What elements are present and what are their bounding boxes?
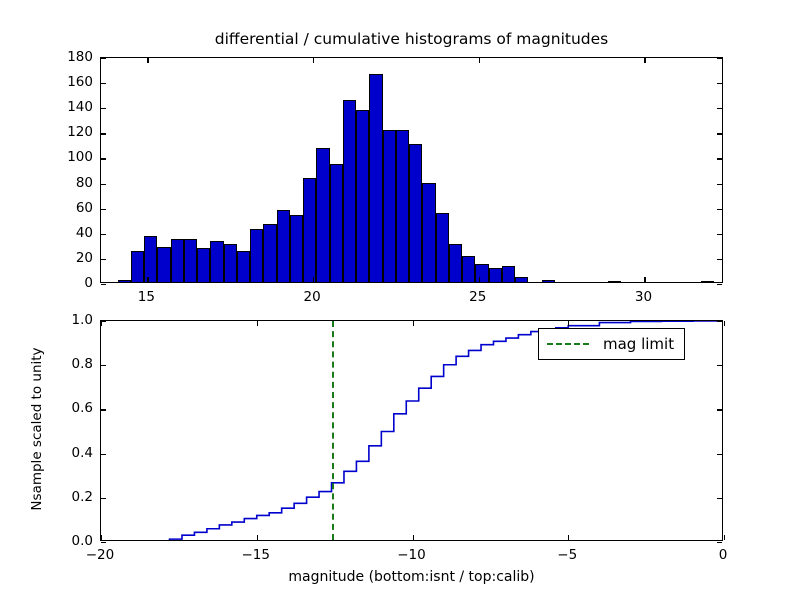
histogram-bar bbox=[343, 100, 356, 282]
bottom-panel-y-tick bbox=[101, 498, 106, 499]
bottom-panel-x-tick bbox=[413, 321, 414, 326]
legend: mag limit bbox=[538, 328, 685, 360]
bottom-panel-x-tick bbox=[101, 535, 102, 540]
top-panel-axes bbox=[100, 57, 723, 283]
histogram-bar bbox=[502, 266, 515, 282]
histogram-bar bbox=[369, 74, 382, 282]
top-panel-y-tick bbox=[101, 133, 106, 134]
top-panel-x-tick bbox=[644, 277, 645, 282]
histogram-bar bbox=[263, 224, 276, 282]
histogram-bar bbox=[462, 256, 475, 282]
histogram-bar bbox=[171, 239, 184, 282]
top-panel-y-tick bbox=[717, 184, 722, 185]
top-panel-y-tick bbox=[717, 234, 722, 235]
bottom-panel-x-tick bbox=[413, 535, 414, 540]
bottom-panel-y-tick-label: 0.4 bbox=[72, 445, 93, 461]
histogram-bar bbox=[608, 281, 621, 283]
top-panel-y-tick bbox=[717, 284, 722, 285]
histogram-bar bbox=[436, 213, 449, 282]
bottom-panel-x-tick-label: 0 bbox=[719, 547, 728, 563]
bottom-panel-y-tick bbox=[717, 365, 722, 366]
histogram-bar bbox=[449, 244, 462, 282]
top-panel-y-tick bbox=[717, 133, 722, 134]
x-axis-title: magnitude (bottom:isnt / top:calib) bbox=[100, 569, 723, 585]
histogram-bar bbox=[131, 251, 144, 282]
bottom-panel-x-tick-label: −10 bbox=[397, 547, 426, 563]
histogram-bar bbox=[197, 248, 210, 282]
top-panel-y-tick bbox=[717, 209, 722, 210]
top-panel-y-tick bbox=[717, 158, 722, 159]
histogram-bar bbox=[210, 241, 223, 282]
top-panel-x-tick bbox=[147, 58, 148, 63]
bottom-panel-y-tick-labels: 0.00.20.40.60.81.0 bbox=[0, 0, 93, 600]
top-panel-y-tick bbox=[101, 184, 106, 185]
histogram-bar bbox=[157, 247, 170, 282]
top-panel-y-tick bbox=[101, 259, 106, 260]
histogram-bar bbox=[383, 130, 396, 282]
top-panel-y-tick bbox=[101, 284, 106, 285]
top-panel-x-tick-label: 25 bbox=[469, 289, 486, 305]
bottom-panel-x-tick bbox=[568, 321, 569, 326]
bottom-panel-y-tick-label: 0.6 bbox=[72, 400, 93, 416]
top-panel-y-tick bbox=[717, 83, 722, 84]
bottom-panel-x-tick bbox=[724, 321, 725, 326]
bottom-panel-x-tick bbox=[257, 321, 258, 326]
bottom-panel-x-tick bbox=[724, 535, 725, 540]
histogram-bar bbox=[250, 229, 263, 282]
bottom-panel-y-tick bbox=[717, 498, 722, 499]
bottom-panel-y-tick-label: 1.0 bbox=[72, 312, 93, 328]
histogram-bar bbox=[184, 239, 197, 282]
mag-limit-vertical-line bbox=[332, 321, 334, 540]
bottom-panel-axes: mag limit bbox=[100, 320, 723, 541]
figure-title: differential / cumulative histograms of … bbox=[100, 30, 723, 48]
histogram-bar bbox=[316, 148, 329, 282]
bottom-panel-y-tick bbox=[717, 321, 722, 322]
histogram-bar bbox=[475, 264, 488, 282]
bottom-panel-y-tick bbox=[101, 542, 106, 543]
top-panel-x-tick-label: 30 bbox=[635, 289, 652, 305]
bottom-panel-y-tick bbox=[717, 409, 722, 410]
top-panel-y-tick bbox=[101, 234, 106, 235]
mag-limit-line-swatch-icon bbox=[547, 343, 589, 345]
histogram-bar bbox=[144, 236, 157, 282]
top-panel-y-tick bbox=[717, 259, 722, 260]
histogram-bar bbox=[303, 178, 316, 282]
bottom-panel-y-tick-label: 0.2 bbox=[72, 489, 93, 505]
bottom-panel-x-tick-label: −15 bbox=[242, 547, 271, 563]
histogram-bar bbox=[330, 164, 343, 282]
histogram-bar bbox=[701, 281, 714, 283]
figure-canvas: differential / cumulative histograms of … bbox=[0, 0, 800, 600]
top-panel-y-tick bbox=[717, 108, 722, 109]
histogram-bar bbox=[237, 251, 250, 282]
bottom-panel-x-tick bbox=[101, 321, 102, 326]
top-panel-x-tick-label: 20 bbox=[303, 289, 320, 305]
top-panel-x-tick bbox=[479, 58, 480, 63]
top-panel-x-tick bbox=[147, 277, 148, 282]
histogram-bar bbox=[277, 210, 290, 282]
histogram-bar bbox=[118, 280, 131, 283]
bottom-panel-y-tick bbox=[101, 365, 106, 366]
top-panel-x-tick bbox=[313, 277, 314, 282]
histogram-bar bbox=[224, 244, 237, 282]
top-panel-y-tick bbox=[101, 108, 106, 109]
top-panel-y-tick bbox=[101, 58, 106, 59]
legend-entry-label: mag limit bbox=[603, 335, 674, 353]
bottom-panel-y-tick bbox=[101, 409, 106, 410]
bottom-panel-x-tick bbox=[257, 535, 258, 540]
histogram-bar bbox=[489, 268, 502, 282]
top-panel-y-tick bbox=[101, 83, 106, 84]
top-panel-x-tick bbox=[479, 277, 480, 282]
histogram-bar bbox=[356, 110, 369, 282]
bottom-panel-x-tick-label: −20 bbox=[86, 547, 115, 563]
histogram-bar bbox=[422, 183, 435, 282]
histogram-bar bbox=[396, 130, 409, 282]
histogram-bar bbox=[409, 144, 422, 282]
top-panel-y-tick bbox=[101, 209, 106, 210]
histogram-bar bbox=[290, 215, 303, 282]
histogram-bar bbox=[515, 277, 528, 282]
bottom-panel-y-tick bbox=[717, 542, 722, 543]
top-panel-x-tick bbox=[313, 58, 314, 63]
bottom-panel-y-tick bbox=[717, 454, 722, 455]
bottom-panel-x-tick bbox=[568, 535, 569, 540]
top-panel-y-tick bbox=[717, 58, 722, 59]
bottom-panel-y-tick-label: 0.8 bbox=[72, 356, 93, 372]
bottom-panel-x-tick-label: −5 bbox=[557, 547, 577, 563]
histogram-bar bbox=[542, 280, 555, 283]
top-panel-y-tick bbox=[101, 158, 106, 159]
top-panel-x-tick-label: 15 bbox=[138, 289, 155, 305]
histogram-plot-area bbox=[101, 58, 722, 282]
top-panel-x-tick bbox=[644, 58, 645, 63]
bottom-panel-y-tick bbox=[101, 454, 106, 455]
